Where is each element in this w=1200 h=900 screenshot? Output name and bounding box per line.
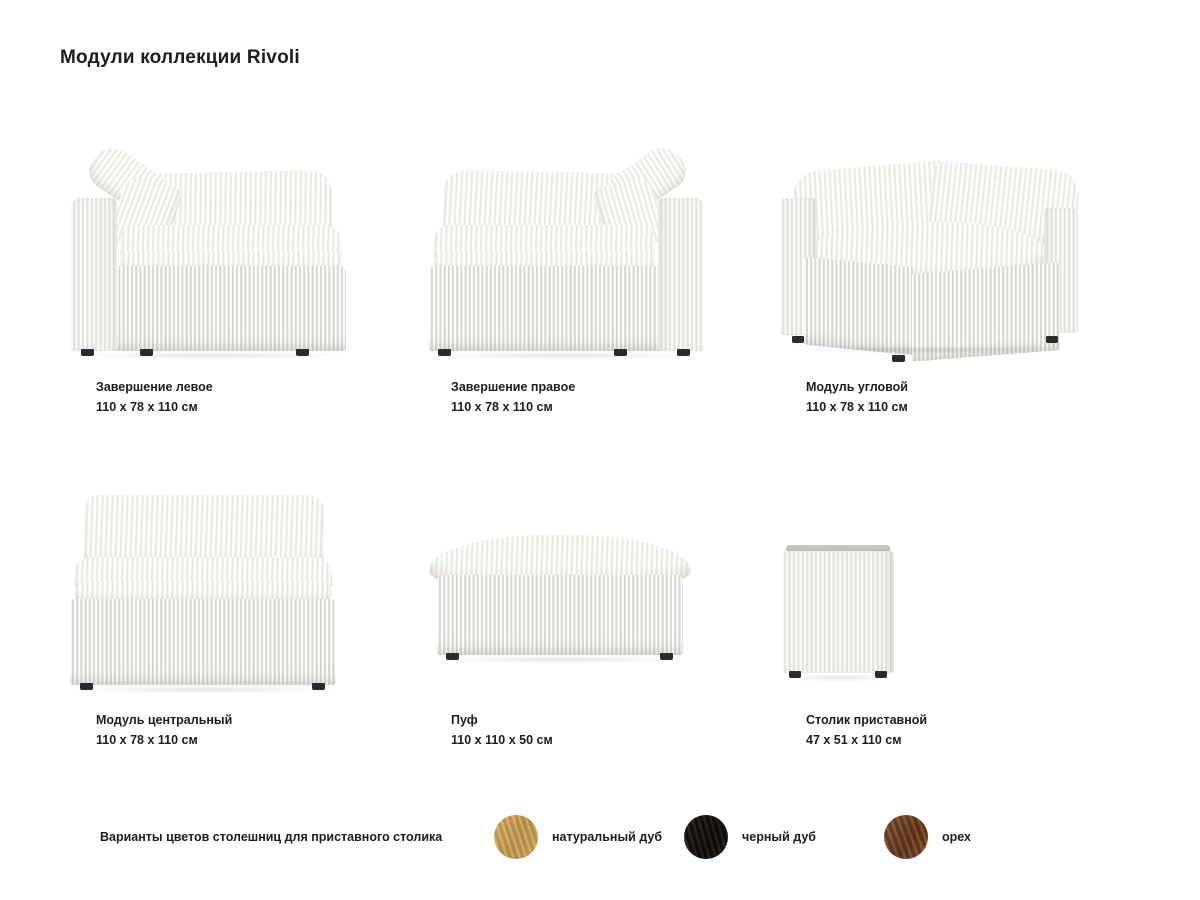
color-options-legend: Варианты цветов столешниц для приставног… [100,815,1100,859]
module-name: Модуль угловой [806,378,908,398]
module-caption: Модуль центральный 110 x 78 x 110 см [96,711,232,751]
natural-oak-label: натуральный дуб [552,830,662,844]
module-name: Завершение левое [96,378,213,398]
modules-grid: Завершение левое 110 x 78 x 110 см Заве [60,150,1150,816]
sofa-foot [892,355,905,362]
module-card-corner[interactable]: Модуль угловой 110 x 78 x 110 см [770,150,1125,483]
walnut-swatch-icon[interactable] [884,815,928,859]
sofa-foot [1046,336,1058,343]
module-dimensions: 110 x 78 x 110 см [451,398,575,418]
natural-oak-swatch-icon[interactable] [494,815,538,859]
module-caption: Завершение правое 110 x 78 x 110 см [451,378,575,418]
side-table-image [770,483,1090,698]
module-card-pouf[interactable]: Пуф 110 x 110 x 50 см [415,483,770,816]
module-dimensions: 110 x 78 x 110 см [806,398,908,418]
module-caption: Пуф 110 x 110 x 50 см [451,711,553,751]
sofa-foot [792,336,804,343]
sofa-center-image [60,483,380,698]
module-dimensions: 110 x 78 x 110 см [96,731,232,751]
swatch-walnut[interactable]: орех [884,815,971,859]
module-name: Завершение правое [451,378,575,398]
swatch-black-oak[interactable]: черный дуб [684,815,816,859]
black-oak-swatch-icon[interactable] [684,815,728,859]
page-title: Модули коллекции Rivoli [60,47,300,69]
module-name: Пуф [451,711,553,731]
module-name: Столик приставной [806,711,927,731]
module-dimensions: 110 x 78 x 110 см [96,398,213,418]
module-card-right-end[interactable]: Завершение правое 110 x 78 x 110 см [415,150,770,483]
pouf-image [415,483,735,698]
sofa-left-end-image [60,150,380,365]
module-dimensions: 110 x 110 x 50 см [451,731,553,751]
black-oak-label: черный дуб [742,830,816,844]
module-dimensions: 47 x 51 x 110 см [806,731,927,751]
module-card-side-table[interactable]: Столик приставной 47 x 51 x 110 см [770,483,1125,816]
module-card-left-end[interactable]: Завершение левое 110 x 78 x 110 см [60,150,415,483]
swatch-natural-oak[interactable]: натуральный дуб [494,815,662,859]
sofa-corner-image [770,150,1090,365]
module-caption: Модуль угловой 110 x 78 x 110 см [806,378,908,418]
module-card-center[interactable]: Модуль центральный 110 x 78 x 110 см [60,483,415,816]
module-caption: Завершение левое 110 x 78 x 110 см [96,378,213,418]
walnut-label: орех [942,830,971,844]
module-name: Модуль центральный [96,711,232,731]
module-caption: Столик приставной 47 x 51 x 110 см [806,711,927,751]
sofa-right-end-image [415,150,735,365]
legend-title: Варианты цветов столешниц для приставног… [100,830,442,844]
